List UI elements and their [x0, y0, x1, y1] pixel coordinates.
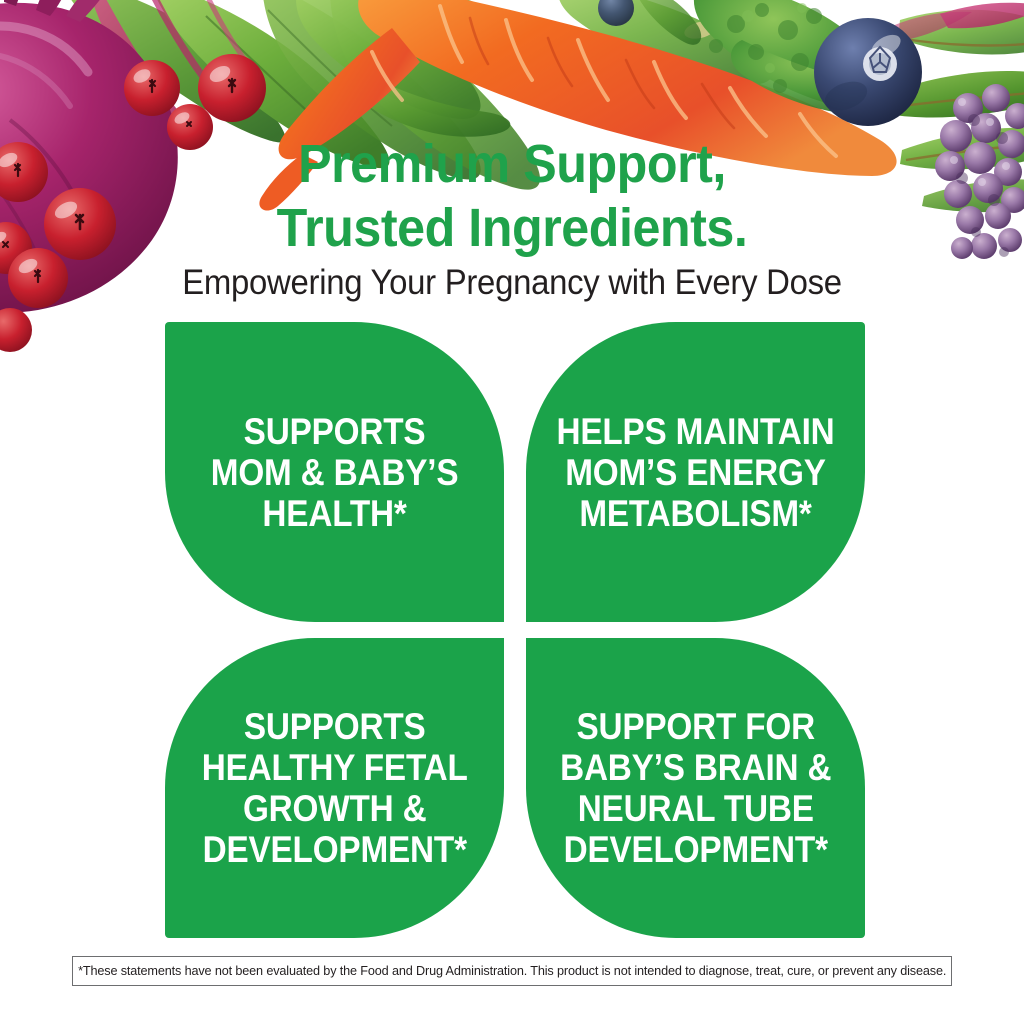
blueberry-icon — [814, 18, 922, 126]
disclaimer-box: *These statements have not been evaluate… — [72, 956, 952, 986]
subheadline: Empowering Your Pregnancy with Every Dos… — [31, 262, 994, 304]
headline-block: Premium Support, Trusted Ingredients. — [0, 132, 1024, 260]
headline-line-2: Trusted Ingredients. — [36, 196, 988, 260]
benefit-label: HELPS MAINTAIN MOM’S ENERGY METABOLISM* — [556, 411, 834, 534]
benefit-label: SUPPORT FOR BABY’S BRAIN & NEURAL TUBE D… — [560, 706, 831, 870]
disclaimer-text: *These statements have not been evaluate… — [78, 963, 946, 979]
benefit-panel-brain-neural-tube: SUPPORT FOR BABY’S BRAIN & NEURAL TUBE D… — [526, 638, 865, 938]
benefit-label: SUPPORTS MOM & BABY’S HEALTH* — [211, 411, 459, 534]
broccoli-icon — [694, 0, 919, 116]
kale-leaf-icon — [296, 0, 772, 137]
produce-accent-icon — [598, 0, 701, 45]
benefit-panel-energy-metabolism: HELPS MAINTAIN MOM’S ENERGY METABOLISM* — [526, 322, 865, 622]
benefit-label: SUPPORTS HEALTHY FETAL GROWTH & DEVELOPM… — [202, 706, 468, 870]
chard-stem-icon — [90, 0, 254, 126]
benefit-grid: SUPPORTS MOM & BABY’S HEALTH* HELPS MAIN… — [165, 322, 865, 938]
benefit-panel-fetal-growth: SUPPORTS HEALTHY FETAL GROWTH & DEVELOPM… — [165, 638, 504, 938]
benefit-panel-mom-baby-health: SUPPORTS MOM & BABY’S HEALTH* — [165, 322, 504, 622]
poster-canvas: Premium Support, Trusted Ingredients. Em… — [0, 0, 1024, 1024]
headline-line-1: Premium Support, — [36, 132, 988, 196]
